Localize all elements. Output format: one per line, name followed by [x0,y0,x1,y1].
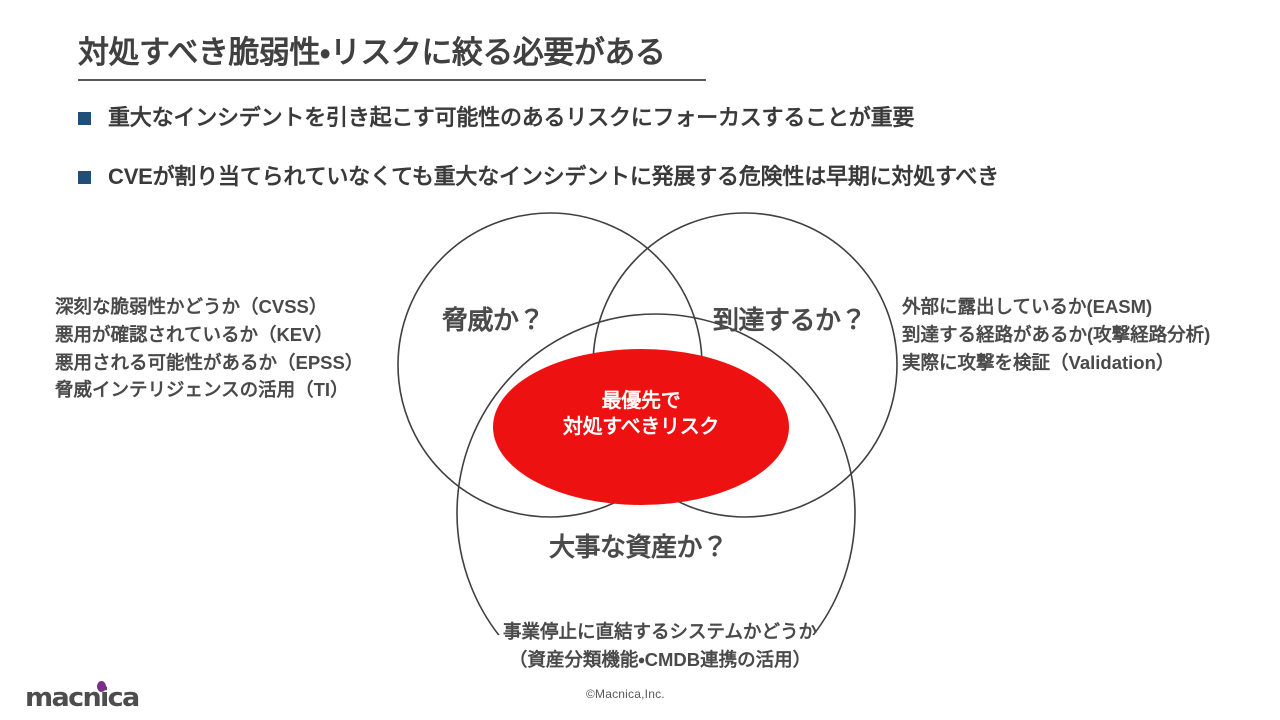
copyright-text: ©Macnica,Inc. [586,687,665,701]
annotation-bottom-line-1: 事業停止に直結するシステムかどうか [455,618,865,646]
slide-canvas: 対処すべき脆弱性・リスクに絞る必要がある 重大なインシデントを引き起こす可能性の… [0,0,1280,720]
bullet-item-2: CVEが割り当てられていなくても重大なインシデントに発展する危険性は早期に対処す… [78,163,999,191]
annotation-left: 深刻な脆弱性かどうか（CVSS） 悪用が確認されているか（KEV） 悪用される可… [55,293,363,404]
macnica-logo: macnica [25,681,160,711]
square-bullet-icon [78,171,91,184]
macnica-logo-dot-icon [97,681,106,692]
annotation-left-line-1: 深刻な脆弱性かどうか（CVSS） [55,293,363,321]
venn-center-label-line2: 対処すべきリスク [493,414,789,440]
bullet-item-1: 重大なインシデントを引き起こす可能性のあるリスクにフォーカスすることが重要 [78,104,914,132]
venn-center-label-line1: 最優先で [493,388,789,414]
annotation-left-line-4: 脅威インテリジェンスの活用（TI） [55,376,363,404]
annotation-right-line-3: 実際に攻撃を検証（Validation） [902,349,1210,377]
annotation-bottom: 事業停止に直結するシステムかどうか （資産分類機能・CMDB連携の活用） [455,618,865,674]
annotation-right-line-2: 到達する経路があるか(攻撃経路分析) [902,321,1210,349]
bullet-item-1-text: 重大なインシデントを引き起こす可能性のあるリスクにフォーカスすることが重要 [108,104,914,132]
title-underline-divider [78,79,706,81]
venn-center-label: 最優先で 対処すべきリスク [493,388,789,441]
page-title-text: 対処すべき脆弱性・リスクに絞る必要がある [78,34,778,72]
annotation-bottom-line-2: （資産分類機能・CMDB連携の活用） [455,646,865,674]
venn-label-threat: 脅威か？ [442,300,544,337]
annotation-right: 外部に露出しているか(EASM) 到達する経路があるか(攻撃経路分析) 実際に攻… [902,293,1210,376]
annotation-left-line-3: 悪用される可能性があるか（EPSS） [55,349,363,377]
annotation-right-line-1: 外部に露出しているか(EASM) [902,293,1210,321]
macnica-logo-text: macnica [25,685,139,711]
square-bullet-icon [78,112,91,125]
annotation-left-line-2: 悪用が確認されているか（KEV） [55,321,363,349]
venn-label-reach: 到達するか？ [713,300,866,337]
venn-label-asset: 大事な資産か？ [549,527,728,564]
bullet-item-2-text: CVEが割り当てられていなくても重大なインシデントに発展する危険性は早期に対処す… [108,163,999,191]
page-title: 対処すべき脆弱性・リスクに絞る必要がある [78,34,778,72]
